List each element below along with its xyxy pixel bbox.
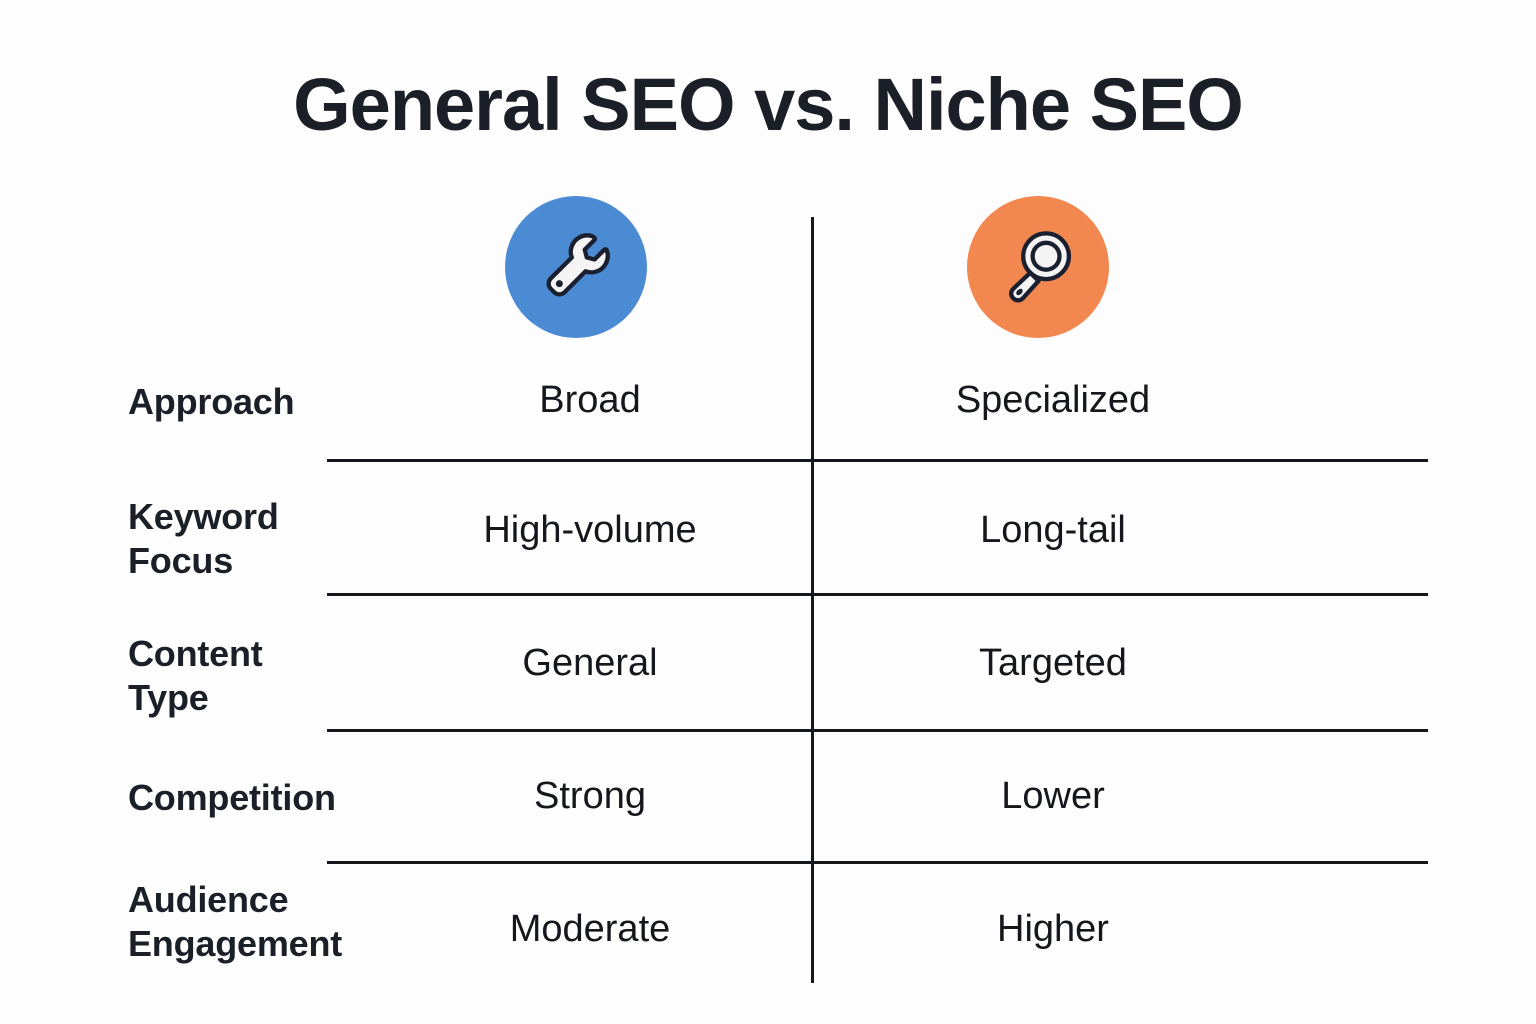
cell-general-content-type: General [400,641,780,687]
cell-general-audience-engagement: Moderate [400,907,780,953]
cell-niche-content-type: Targeted [843,641,1263,687]
general-seo-column-badge [505,196,647,338]
cell-niche-keyword-focus: Long-tail [843,508,1263,554]
column-divider [811,217,814,983]
cell-niche-competition: Lower [843,774,1263,820]
page-title: General SEO vs. Niche SEO [0,62,1536,147]
cell-general-approach: Broad [400,378,780,424]
magnifying-glass-icon [995,224,1081,310]
cell-general-keyword-focus: High-volume [400,508,780,554]
row-divider [327,729,1428,732]
row-divider [327,459,1428,462]
niche-seo-column-badge [967,196,1109,338]
cell-general-competition: Strong [400,774,780,820]
comparison-infographic: General SEO vs. Niche SEO Approach [0,0,1536,1024]
row-divider [327,861,1428,864]
wrench-icon [533,224,619,310]
cell-niche-approach: Specialized [843,378,1263,424]
row-divider [327,593,1428,596]
cell-niche-audience-engagement: Higher [843,907,1263,953]
